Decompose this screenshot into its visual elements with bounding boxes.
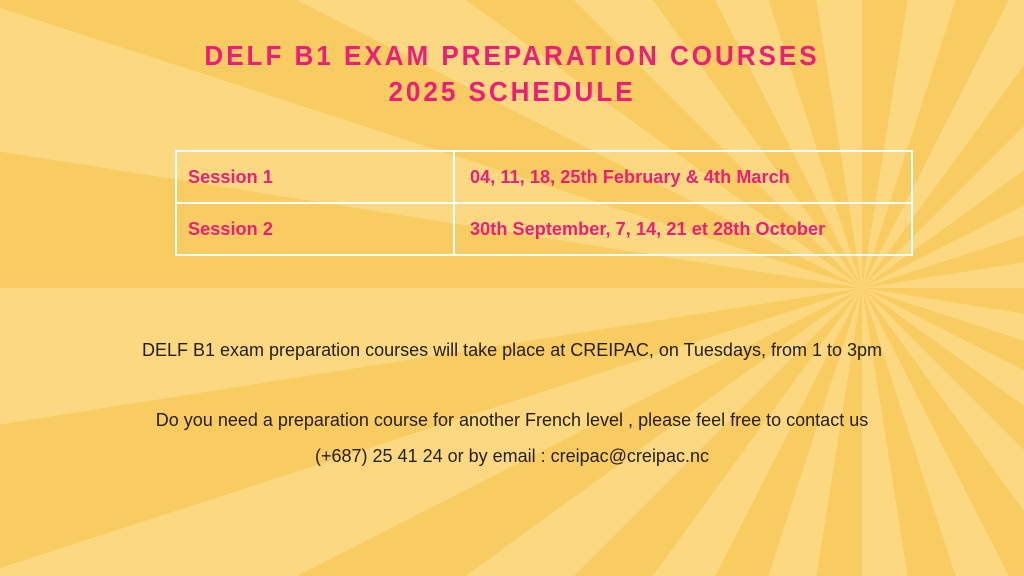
poster-content: DELF B1 EXAM PREPARATION COURSES 2025 SC… <box>0 0 1024 576</box>
location-info-text: DELF B1 exam preparation courses will ta… <box>0 332 1024 368</box>
contact-info-line-1: Do you need a preparation course for ano… <box>0 402 1024 438</box>
title-line-1: DELF B1 EXAM PREPARATION COURSES <box>36 38 988 74</box>
session-2-label: Session 2 <box>176 203 454 255</box>
table-row: Session 2 30th September, 7, 14, 21 et 2… <box>176 203 912 255</box>
page-title: DELF B1 EXAM PREPARATION COURSES 2025 SC… <box>0 38 1024 110</box>
title-line-2: 2025 SCHEDULE <box>36 74 988 110</box>
session-1-label: Session 1 <box>176 151 454 203</box>
session-1-dates: 04, 11, 18, 25th February & 4th March <box>454 151 912 203</box>
session-2-dates: 30th September, 7, 14, 21 et 28th Octobe… <box>454 203 912 255</box>
contact-info-block: Do you need a preparation course for ano… <box>0 402 1024 474</box>
table-row: Session 1 04, 11, 18, 25th February & 4t… <box>176 151 912 203</box>
poster-canvas: DELF B1 EXAM PREPARATION COURSES 2025 SC… <box>0 0 1024 576</box>
schedule-table: Session 1 04, 11, 18, 25th February & 4t… <box>175 150 913 256</box>
contact-info-line-2: (+687) 25 41 24 or by email : creipac@cr… <box>0 438 1024 474</box>
